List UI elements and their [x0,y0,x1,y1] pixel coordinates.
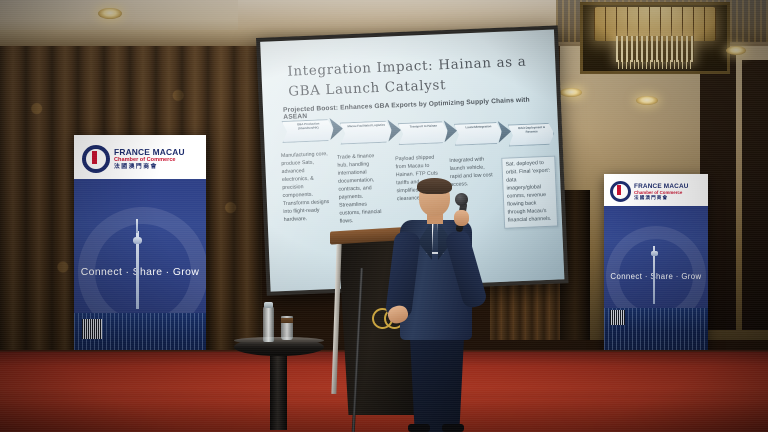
podium-rail-left [331,244,341,394]
banner-right-org-line3: 法國澳門商會 [634,195,689,201]
downlight [98,8,122,19]
slide-title: Integration Impact: Hainan as a GBA Laun… [287,52,538,102]
chevron-step-2: Macau Facilitated Logistics [340,120,393,144]
chandelier-crystal-block [616,36,694,62]
speaker-hand-right [454,210,469,226]
chandelier-crystal-drops [618,60,692,69]
banner-qr-code[interactable] [82,319,102,339]
drinking-glass-contents [281,318,293,323]
chandelier [580,2,730,74]
downlight [636,96,658,105]
chevron-step-1: GBA Production (Shenzhen/HK) [281,119,334,143]
banner-left-org-line1: FRANCE MACAU [114,148,185,157]
banner-left-org-line3: 法國澳門商會 [114,164,185,171]
banner-right-tagline: Connect · Share · Grow [604,272,708,281]
slide-column-1: Manufacturing core, produce Sats, advanc… [281,151,332,224]
cci-circle-icon [610,181,631,202]
banner-right-header: FRANCE MACAU Chamber of Commerce 法國澳門商會 [604,174,708,206]
cocktail-table-stem [270,352,287,430]
macau-tower-pod [133,237,142,244]
water-bottle [263,306,274,342]
cci-circle-icon [82,145,110,173]
speaker-person [392,180,502,432]
macau-tower-mast [136,219,138,233]
banner-qr-code[interactable] [610,310,625,325]
conference-photo: Integration Impact: Hainan as a GBA Laun… [0,0,768,432]
cci-i-mark-icon [92,151,97,164]
speaker-shoe-right [442,424,464,432]
downlight [726,46,746,55]
slide-column-5: Sat. deployed to orbit. Final 'export': … [501,156,558,229]
banner-right-body: Connect · Share · Grow [604,206,708,362]
speaker-trousers [406,332,468,432]
slide-column-2: Trade & finance hub, handling internatio… [337,153,388,226]
cci-i-mark-icon [617,185,621,195]
banner-left-org-line2: Chamber of Commerce [114,157,185,164]
speaker-hair [417,178,452,194]
banner-right-org-line1: FRANCE MACAU [634,183,689,190]
banner-left-tagline: Connect · Share · Grow [74,267,206,278]
banner-left-header: FRANCE MACAU Chamber of Commerce 法國澳門商會 [74,135,206,179]
macau-tower-pod [651,251,658,256]
speaker-shoe-left [408,424,430,432]
chevron-step-3: Transport to Hainan [398,121,449,145]
cci-logo-right: FRANCE MACAU Chamber of Commerce 法國澳門商會 [610,181,689,202]
downlight [560,88,582,97]
wall-dark-panel-2 [742,60,768,330]
microphone-capsule-icon [455,193,468,206]
water-bottle-cap [264,302,273,308]
cci-logo-left: FRANCE MACAU Chamber of Commerce 法國澳門商會 [82,145,185,173]
cocktail-table-rim [234,337,324,344]
chevron-step-4: Launch/Integration [454,122,503,146]
